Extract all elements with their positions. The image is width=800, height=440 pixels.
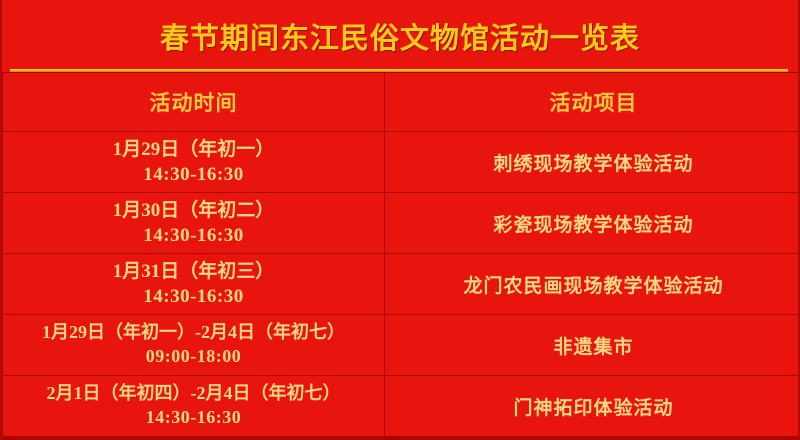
gold-divider-rule	[10, 69, 788, 72]
poster-title-band: 春节期间东江民俗文物馆活动一览表	[2, 0, 798, 72]
table-row: 1月29日（年初一） 14:30-16:30 刺绣现场教学体验活动	[3, 132, 800, 193]
activity-hours: 14:30-16:30	[7, 284, 380, 309]
activity-hours: 14:30-16:30	[7, 162, 380, 187]
cell-activity-time: 1月29日（年初一）-2月4日（年初七） 09:00-18:00	[3, 315, 385, 376]
activity-date: 2月1日（年初四）-2月4日（年初七）	[47, 383, 341, 403]
column-header-item: 活动项目	[385, 73, 800, 132]
cell-activity-item: 彩瓷现场教学体验活动	[385, 193, 800, 254]
activity-schedule-poster: 春节期间东江民俗文物馆活动一览表 活动时间 活动项目 1月29日（年初一） 14…	[0, 0, 800, 440]
table-header-row: 活动时间 活动项目	[3, 73, 800, 132]
cell-activity-item: 门神拓印体验活动	[385, 376, 800, 437]
cell-activity-time: 2月1日（年初四）-2月4日（年初七） 14:30-16:30	[3, 376, 385, 437]
cell-activity-item: 刺绣现场教学体验活动	[385, 132, 800, 193]
cell-activity-time: 1月31日（年初三） 14:30-16:30	[3, 254, 385, 315]
cell-activity-item: 非遗集市	[385, 315, 800, 376]
activity-date: 1月31日（年初三）	[113, 261, 275, 282]
table-row: 1月31日（年初三） 14:30-16:30 龙门农民画现场教学体验活动	[3, 254, 800, 315]
table-row: 1月30日（年初二） 14:30-16:30 彩瓷现场教学体验活动	[3, 193, 800, 254]
activity-hours: 09:00-18:00	[7, 345, 380, 369]
activity-date: 1月29日（年初一）	[113, 139, 275, 160]
cell-activity-time: 1月30日（年初二） 14:30-16:30	[3, 193, 385, 254]
activity-date: 1月29日（年初一）-2月4日（年初七）	[42, 322, 345, 342]
table-row: 1月29日（年初一）-2月4日（年初七） 09:00-18:00 非遗集市	[3, 315, 800, 376]
activity-date: 1月30日（年初二）	[113, 200, 275, 221]
activity-hours: 14:30-16:30	[7, 223, 380, 248]
cell-activity-item: 龙门农民画现场教学体验活动	[385, 254, 800, 315]
cell-activity-time: 1月29日（年初一） 14:30-16:30	[3, 132, 385, 193]
page-title: 春节期间东江民俗文物馆活动一览表	[160, 15, 640, 57]
column-header-time: 活动时间	[3, 73, 385, 132]
activity-hours: 14:30-16:30	[7, 406, 380, 430]
activity-schedule-table: 活动时间 活动项目 1月29日（年初一） 14:30-16:30 刺绣现场教学体…	[2, 72, 800, 437]
table-row: 2月1日（年初四）-2月4日（年初七） 14:30-16:30 门神拓印体验活动	[3, 376, 800, 437]
